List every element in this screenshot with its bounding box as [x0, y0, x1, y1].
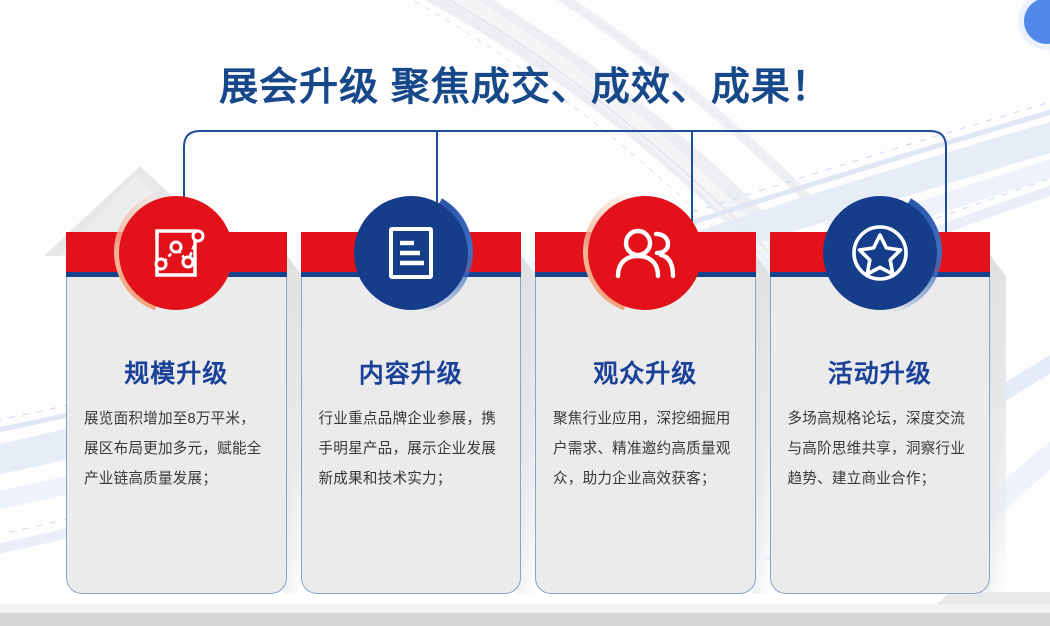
bottom-gray-strip [0, 613, 1050, 626]
badge-people-group[interactable] [588, 196, 702, 310]
card-description: 行业重点品牌企业参展，携手明星产品，展示企业发展新成果和技术实力； [319, 404, 504, 494]
card-audience-upgrade[interactable]: 观众升级 聚焦行业应用，深挖细掘用户需求、精准邀约高质量观众，助力企业高效获客； [535, 232, 756, 594]
card-content-upgrade[interactable]: 内容升级 行业重点品牌企业参展，携手明星产品，展示企业发展新成果和技术实力； [301, 232, 522, 594]
card-title: 内容升级 [301, 354, 522, 390]
badge-chart-graph[interactable] [119, 196, 233, 310]
bottom-light-strip [0, 604, 1050, 614]
card-activity-upgrade[interactable]: 活动升级 多场高规格论坛，深度交流与高阶思维共享，洞察行业趋势、建立商业合作； [770, 232, 991, 594]
chart-graph-icon [147, 224, 205, 282]
card-description: 展览面积增加至8万平米，展区布局更加多元，赋能全产业链高质量发展； [84, 404, 269, 494]
card-description: 多场高规格论坛，深度交流与高阶思维共享，洞察行业趋势、建立商业合作； [788, 404, 973, 494]
card-scale-upgrade[interactable]: 规模升级 展览面积增加至8万平米，展区布局更加多元，赋能全产业链高质量发展； [66, 232, 287, 594]
badge-star-circle[interactable] [823, 196, 937, 310]
page-title: 展会升级 聚焦成交、成效、成果！ [0, 64, 1050, 112]
card-description: 聚焦行业应用，深挖细掘用户需求、精准邀约高质量观众，助力企业高效获客； [553, 404, 738, 494]
card-title: 规模升级 [66, 354, 287, 390]
bottom-wedge-decoration [928, 592, 1050, 612]
infographic-slide: 展会升级 聚焦成交、成效、成果！ [0, 0, 1050, 626]
card-title: 活动升级 [770, 354, 991, 390]
star-circle-icon [849, 222, 911, 284]
people-group-icon [613, 224, 677, 282]
card-title: 观众升级 [535, 354, 756, 390]
upgrade-cards-row: 规模升级 展览面积增加至8万平米，展区布局更加多元，赋能全产业链高质量发展； [66, 232, 990, 594]
document-lines-icon [384, 224, 438, 282]
badge-document-lines[interactable] [354, 196, 468, 310]
